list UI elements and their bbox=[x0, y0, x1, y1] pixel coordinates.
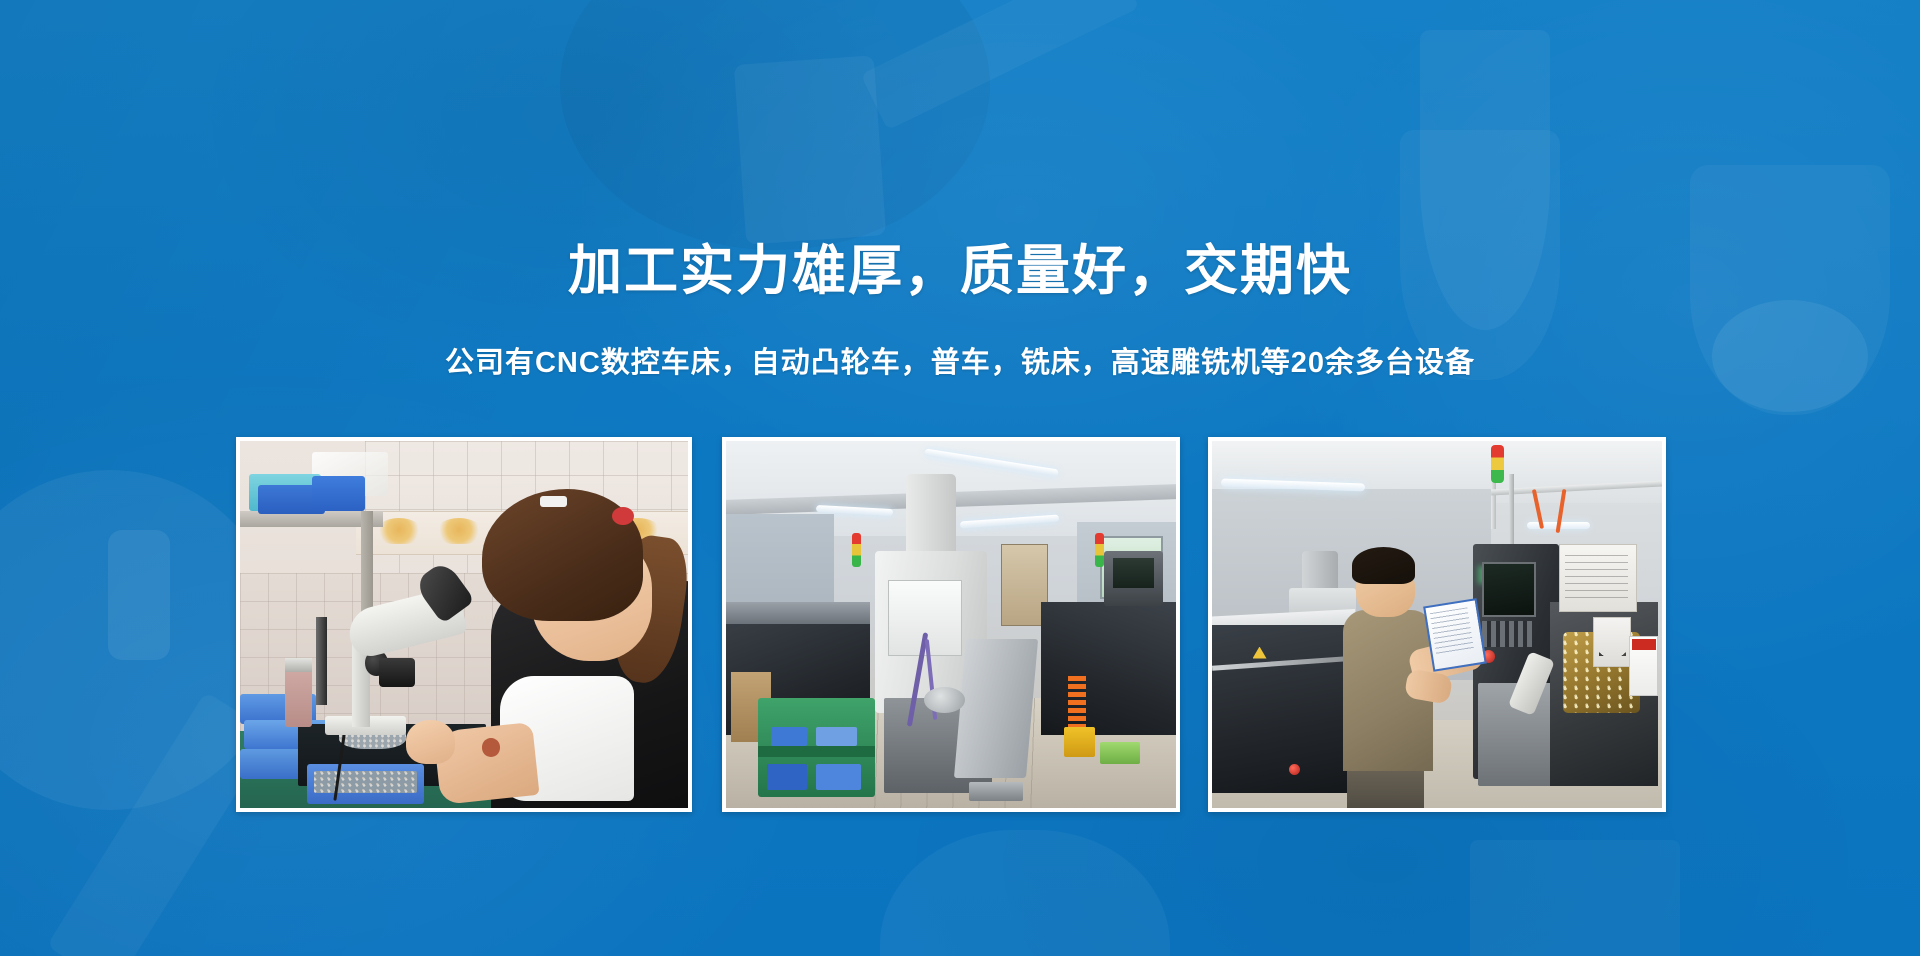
yellow-container bbox=[1064, 727, 1096, 756]
metal-pellets bbox=[314, 771, 417, 793]
cnc-lathe-left-cover bbox=[726, 602, 870, 624]
tool-bin bbox=[816, 764, 861, 790]
cnc-workshop-image bbox=[726, 441, 1176, 808]
green-container bbox=[1100, 742, 1141, 764]
bar-feeder-conveyor bbox=[954, 639, 1038, 778]
tool-bin bbox=[767, 764, 808, 790]
company-capability-banner: 加工实力雄厚，质量好，交期快 公司有CNC数控车床，自动凸轮车，普车，铣床，高速… bbox=[0, 0, 1920, 956]
inspector-hand bbox=[406, 720, 455, 764]
clipboard-drawing-lines bbox=[1429, 607, 1474, 656]
cnc-workshop-photo[interactable] bbox=[722, 437, 1180, 812]
banner-subheadline: 公司有CNC数控车床，自动凸轮车，普车，铣床，高速雕铣机等20余多台设备 bbox=[0, 345, 1920, 383]
banner-content: 加工实力雄厚，质量好，交期快 公司有CNC数控车床，自动凸轮车，普车，铣床，高速… bbox=[0, 0, 1920, 956]
bottle-cap bbox=[285, 658, 312, 673]
cnc-operator-image bbox=[1212, 441, 1662, 808]
cable-chain bbox=[1068, 676, 1086, 735]
cnc-operator-photo[interactable] bbox=[1208, 437, 1666, 812]
warning-sign-band bbox=[1632, 639, 1655, 650]
control-screen-right bbox=[1113, 558, 1154, 587]
parts-basket bbox=[312, 476, 366, 511]
cnc-keypad bbox=[1482, 621, 1532, 647]
operator-hair bbox=[1352, 547, 1415, 584]
machine-disc bbox=[924, 687, 965, 713]
conveyor-foot bbox=[969, 782, 1023, 800]
banner-headline: 加工实力雄厚，质量好，交期快 bbox=[0, 240, 1920, 302]
cnc-screen bbox=[1482, 562, 1536, 617]
tool-bin bbox=[771, 727, 807, 745]
quality-inspection-photo[interactable] bbox=[236, 437, 692, 812]
tool-cart-shelf bbox=[758, 746, 875, 757]
tile-motif bbox=[436, 518, 482, 544]
stack-light bbox=[852, 533, 861, 567]
quality-inspection-image bbox=[240, 441, 688, 808]
stack-light bbox=[1095, 533, 1104, 567]
safety-sign-symbol-icon bbox=[1599, 623, 1626, 656]
stack-light bbox=[1491, 445, 1504, 483]
cnc-lathe bbox=[1212, 625, 1356, 794]
placard-text-lines bbox=[1565, 555, 1628, 599]
tool-bin bbox=[816, 727, 857, 745]
microscope-objective bbox=[379, 658, 415, 687]
inspector-bracelet bbox=[482, 738, 500, 756]
photo-gallery bbox=[236, 437, 1666, 812]
inspector-hair-clip bbox=[540, 496, 567, 507]
hand-tool bbox=[316, 617, 327, 705]
water-bottle bbox=[285, 669, 312, 728]
cnc-lathe-right bbox=[1041, 602, 1176, 734]
emergency-stop-button bbox=[1289, 764, 1300, 775]
